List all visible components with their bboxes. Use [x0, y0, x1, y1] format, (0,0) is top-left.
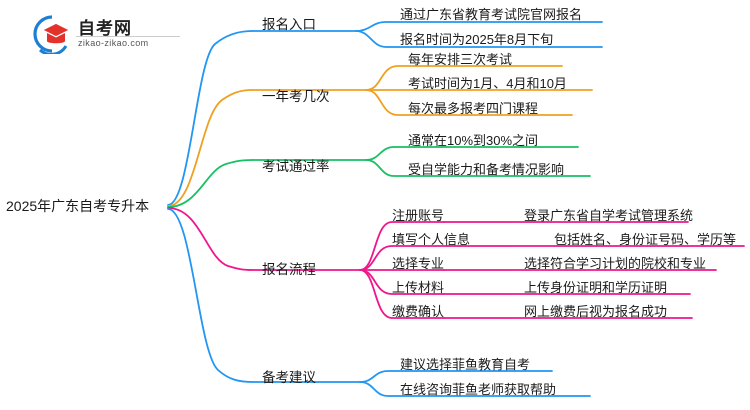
leaf-node-b3-c1[interactable]: 通常在10%到30%之间 [408, 134, 538, 147]
wire-root-to-b2 [168, 90, 252, 206]
leaf-node-b1-c1[interactable]: 通过广东省教育考试院官网报名 [400, 8, 582, 21]
leaf-node-b4-c5[interactable]: 缴费确认 [392, 305, 444, 318]
wire-b3-c1 [366, 147, 578, 160]
branch-node-beikaojianyi[interactable]: 备考建议 [262, 371, 316, 385]
leaf-node-b4-c4[interactable]: 上传材料 [392, 281, 444, 294]
logo-divider [76, 36, 180, 37]
leaf-node-b3-c2[interactable]: 受自学能力和备考情况影响 [408, 163, 564, 176]
leaf-node-b4-c3[interactable]: 选择专业 [392, 257, 444, 270]
leaf-node-b2-c2[interactable]: 考试时间为1月、4月和10月 [408, 77, 567, 90]
leaf-node-b2-c1[interactable]: 每年安排三次考试 [408, 53, 512, 66]
wire-root-to-b5 [168, 209, 252, 382]
mindmap-canvas: 自考网 zikao-zikao.com [0, 0, 750, 410]
branch-node-baomingrukou[interactable]: 报名入口 [262, 18, 316, 32]
wire-root-to-b4 [168, 208, 252, 270]
leaf-node-b4-c2-g1[interactable]: 包括姓名、身份证号码、学历等 [554, 233, 736, 246]
wire-b5-c1 [360, 371, 552, 382]
graduation-cap-icon [32, 14, 72, 54]
leaf-node-b2-c3[interactable]: 每次最多报考四门课程 [408, 102, 538, 115]
wire-root-to-b1 [168, 31, 252, 205]
branch-node-yiniankaojici[interactable]: 一年考几次 [262, 90, 330, 104]
leaf-node-b4-c3-g1[interactable]: 选择符合学习计划的院校和专业 [524, 257, 706, 270]
branch-node-kaoshitongguolv[interactable]: 考试通过率 [262, 160, 330, 174]
mindmap-root-node[interactable]: 2025年广东自考专升本 [6, 199, 149, 213]
leaf-node-b4-c5-g1[interactable]: 网上缴费后视为报名成功 [524, 305, 667, 318]
branch-node-baomingliucheng[interactable]: 报名流程 [262, 263, 316, 277]
wire-b1-c1 [356, 22, 602, 31]
leaf-node-b5-c2[interactable]: 在线咨询菲鱼老师获取帮助 [400, 383, 556, 396]
wire-root-to-b3 [168, 160, 252, 207]
site-logo: 自考网 zikao-zikao.com [32, 12, 182, 56]
leaf-node-b4-c4-g1[interactable]: 上传身份证明和学历证明 [524, 281, 667, 294]
leaf-node-b5-c1[interactable]: 建议选择菲鱼教育自考 [400, 358, 530, 371]
leaf-node-b4-c1[interactable]: 注册账号 [392, 209, 444, 222]
leaf-node-b4-c2[interactable]: 填写个人信息 [392, 233, 470, 246]
leaf-node-b4-c1-g1[interactable]: 登录广东省自学考试管理系统 [524, 209, 693, 222]
leaf-node-b1-c2[interactable]: 报名时间为2025年8月下旬 [400, 33, 553, 46]
logo-url: zikao-zikao.com [78, 38, 149, 48]
